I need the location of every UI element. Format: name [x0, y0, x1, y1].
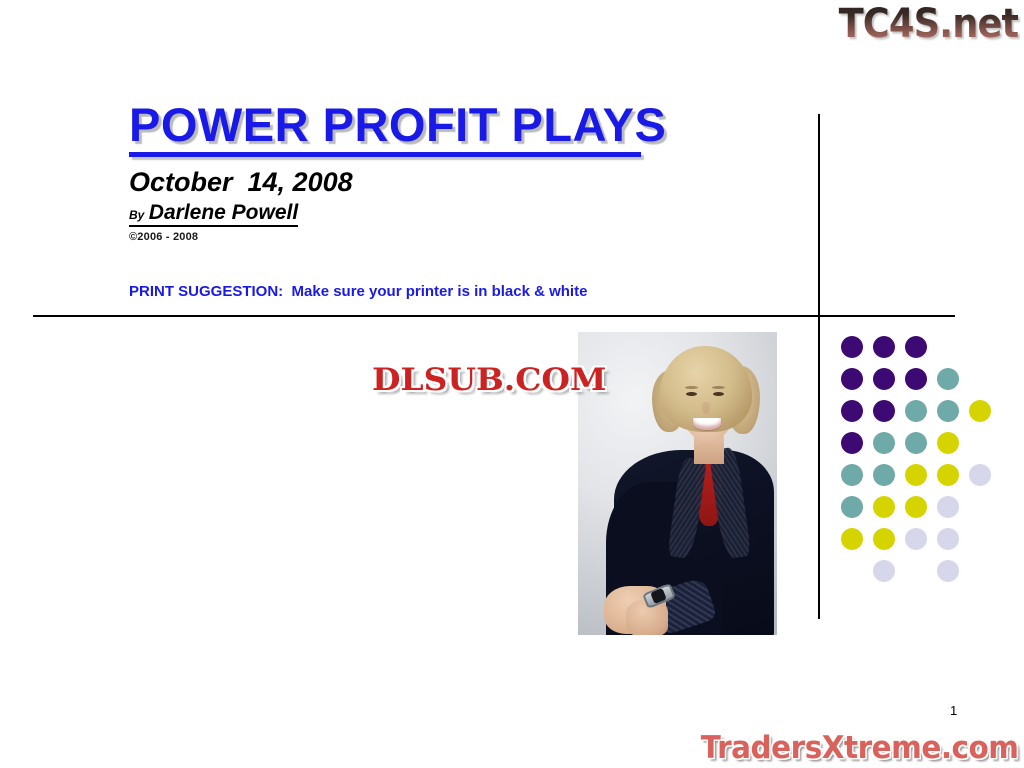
dot-yellow	[905, 464, 927, 486]
page-number: 1	[950, 703, 957, 718]
dlsub-watermark: DLSUB.COM	[372, 362, 606, 398]
dot-teal	[841, 464, 863, 486]
dot-purple	[905, 368, 927, 390]
dot-yellow	[841, 528, 863, 550]
tc4s-logo: TC4S.net	[838, 4, 1018, 44]
photo-eye-left	[686, 392, 697, 396]
vertical-divider-rule	[818, 114, 820, 619]
horizontal-divider-rule	[33, 315, 955, 317]
dot-yellow	[937, 432, 959, 454]
photo-eye-right	[713, 392, 724, 396]
dot-lavender	[937, 560, 959, 582]
photo-nose	[702, 402, 710, 414]
dot-lavender	[905, 528, 927, 550]
photo-eyebrow-right	[712, 386, 725, 389]
presenter-photo	[578, 332, 777, 635]
copyright-notice: ©2006 - 2008	[129, 231, 789, 243]
dot-teal	[905, 400, 927, 422]
photo-smile	[693, 418, 721, 430]
byline-author: Darlene Powell	[149, 201, 298, 224]
print-suggestion-note: PRINT SUGGESTION: Make sure your printer…	[129, 283, 587, 300]
dot-teal	[937, 400, 959, 422]
dot-lavender	[937, 496, 959, 518]
photo-eyebrow-left	[685, 386, 698, 389]
presentation-date: October 14, 2008	[129, 168, 789, 198]
dot-teal	[937, 368, 959, 390]
byline: By Darlene Powell	[129, 202, 298, 227]
dot-purple	[873, 400, 895, 422]
tradersxtreme-logo: TradersXtreme.com	[701, 733, 1019, 764]
dot-teal	[873, 432, 895, 454]
dot-lavender	[937, 528, 959, 550]
dot-purple	[905, 336, 927, 358]
title-underline-rule	[129, 152, 641, 157]
dot-purple	[841, 336, 863, 358]
dot-purple	[873, 368, 895, 390]
dot-lavender	[873, 560, 895, 582]
dot-purple	[841, 368, 863, 390]
dot-purple	[873, 336, 895, 358]
page-title: POWER PROFIT PLAYS	[129, 101, 789, 150]
title-block: POWER PROFIT PLAYS October 14, 2008 By D…	[129, 101, 789, 243]
dot-yellow	[905, 496, 927, 518]
slide-canvas: TC4S.net POWER PROFIT PLAYS October 14, …	[0, 0, 1024, 768]
byline-by-word: By	[129, 208, 144, 222]
decorative-dot-grid	[841, 336, 1011, 586]
dot-yellow	[969, 400, 991, 422]
dot-lavender	[969, 464, 991, 486]
dot-purple	[841, 400, 863, 422]
dot-teal	[841, 496, 863, 518]
dot-teal	[905, 432, 927, 454]
dot-yellow	[937, 464, 959, 486]
dot-yellow	[873, 528, 895, 550]
dot-purple	[841, 432, 863, 454]
dot-yellow	[873, 496, 895, 518]
dot-teal	[873, 464, 895, 486]
